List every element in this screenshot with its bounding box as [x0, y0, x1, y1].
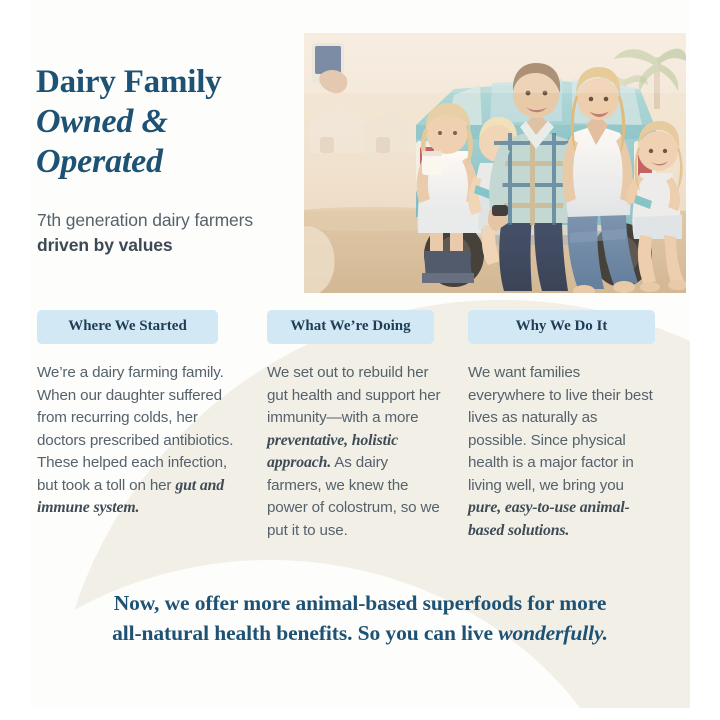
column-2-text-plain-1: We set out to rebuild her gut health and… — [267, 364, 440, 426]
column-why-we-do-it: Why We Do It We want families everywhere… — [468, 310, 658, 542]
subheading-bold: driven by values — [37, 235, 173, 255]
statement-line-2: all-natural health benefits. So you can … — [40, 618, 680, 648]
family-photo-illustration: 1N 05 — [304, 33, 686, 293]
badge-what-were-doing[interactable]: What We’re Doing — [267, 310, 434, 344]
column-what-were-doing: What We’re Doing We set out to rebuild h… — [267, 310, 442, 542]
column-2-body: We set out to rebuild her gut health and… — [267, 362, 442, 542]
badge-why-we-do-it[interactable]: Why We Do It — [468, 310, 655, 344]
headline-line-1: Dairy Family — [36, 62, 298, 102]
column-3-body: We want families everywhere to live thei… — [468, 362, 658, 542]
column-3-text-plain-1: We want families everywhere to live thei… — [468, 364, 653, 494]
column-1-body: We’re a dairy farming family. When our d… — [37, 362, 242, 520]
family-photo: 1N 05 — [304, 33, 686, 293]
badge-where-we-started[interactable]: Where We Started — [37, 310, 218, 344]
subheading: 7th generation dairy farmers driven by v… — [37, 208, 287, 258]
closing-statement: Now, we offer more animal-based superfoo… — [40, 588, 680, 648]
subheading-plain: 7th generation dairy farmers — [37, 210, 253, 230]
page-title: Dairy Family Owned & Operated — [36, 62, 298, 182]
column-3-text-italic: pure, easy-to-use animal-based solutions… — [468, 499, 630, 539]
column-1-text-plain-1: We’re a dairy farming family. When our d… — [37, 364, 233, 494]
column-where-we-started: Where We Started We’re a dairy farming f… — [37, 310, 242, 520]
promo-banner: Dairy Family Owned & Operated 7th genera… — [0, 0, 720, 720]
statement-line-2-italic: wonderfully. — [498, 621, 608, 645]
headline-line-3: Operated — [36, 142, 298, 182]
statement-line-2-plain: all-natural health benefits. So you can … — [112, 621, 498, 645]
headline-line-2: Owned & — [36, 102, 298, 142]
statement-line-1: Now, we offer more animal-based superfoo… — [40, 588, 680, 618]
